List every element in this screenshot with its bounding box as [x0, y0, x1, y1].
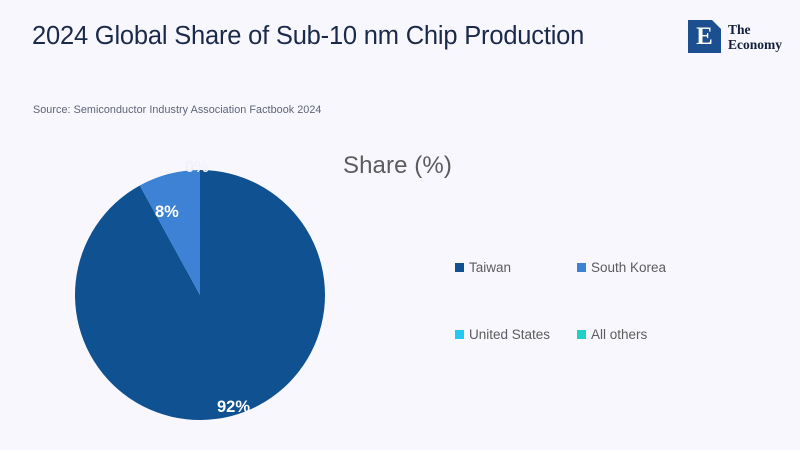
legend-label-all-others: All others: [591, 327, 647, 342]
legend-row: Taiwan South Korea: [455, 260, 755, 275]
chart-legend: Taiwan South Korea United States All oth…: [455, 260, 755, 342]
economy-logo-icon: E: [688, 20, 721, 53]
pie-chart-svg: [75, 170, 325, 420]
legend-label-united-states: United States: [469, 327, 550, 342]
series-title: Share (%): [343, 152, 452, 180]
page-title: 2024 Global Share of Sub-10 nm Chip Prod…: [32, 20, 632, 53]
legend-swatch-united-states: [455, 330, 464, 339]
legend-row: United States All others: [455, 327, 755, 342]
legend-item-taiwan[interactable]: Taiwan: [455, 260, 577, 275]
legend-swatch-south-korea: [577, 263, 586, 272]
legend-swatch-taiwan: [455, 263, 464, 272]
legend-item-south-korea[interactable]: South Korea: [577, 260, 666, 275]
wordmark-line-1: The: [728, 22, 782, 37]
legend-item-all-others[interactable]: All others: [577, 327, 647, 342]
brand-wordmark: The Economy: [728, 22, 782, 52]
legend-swatch-all-others: [577, 330, 586, 339]
chart-plot-area: Share (%) 92% 8% 0% Taiwan South Korea U…: [0, 140, 800, 450]
source-caption: Source: Semiconductor Industry Associati…: [33, 104, 321, 116]
logo-fold-corner-icon: [712, 20, 721, 29]
wordmark-line-2: Economy: [728, 37, 782, 52]
pie-chart: 92% 8% 0%: [75, 170, 325, 420]
slice-label-united-states: 0%: [185, 158, 209, 177]
slice-label-taiwan: 92%: [217, 398, 250, 417]
legend-label-taiwan: Taiwan: [469, 260, 511, 275]
legend-label-south-korea: South Korea: [591, 260, 666, 275]
brand-logo: E The Economy: [688, 20, 782, 53]
chart-header: 2024 Global Share of Sub-10 nm Chip Prod…: [0, 0, 800, 140]
legend-item-united-states[interactable]: United States: [455, 327, 577, 342]
slice-label-south-korea: 8%: [155, 203, 179, 222]
